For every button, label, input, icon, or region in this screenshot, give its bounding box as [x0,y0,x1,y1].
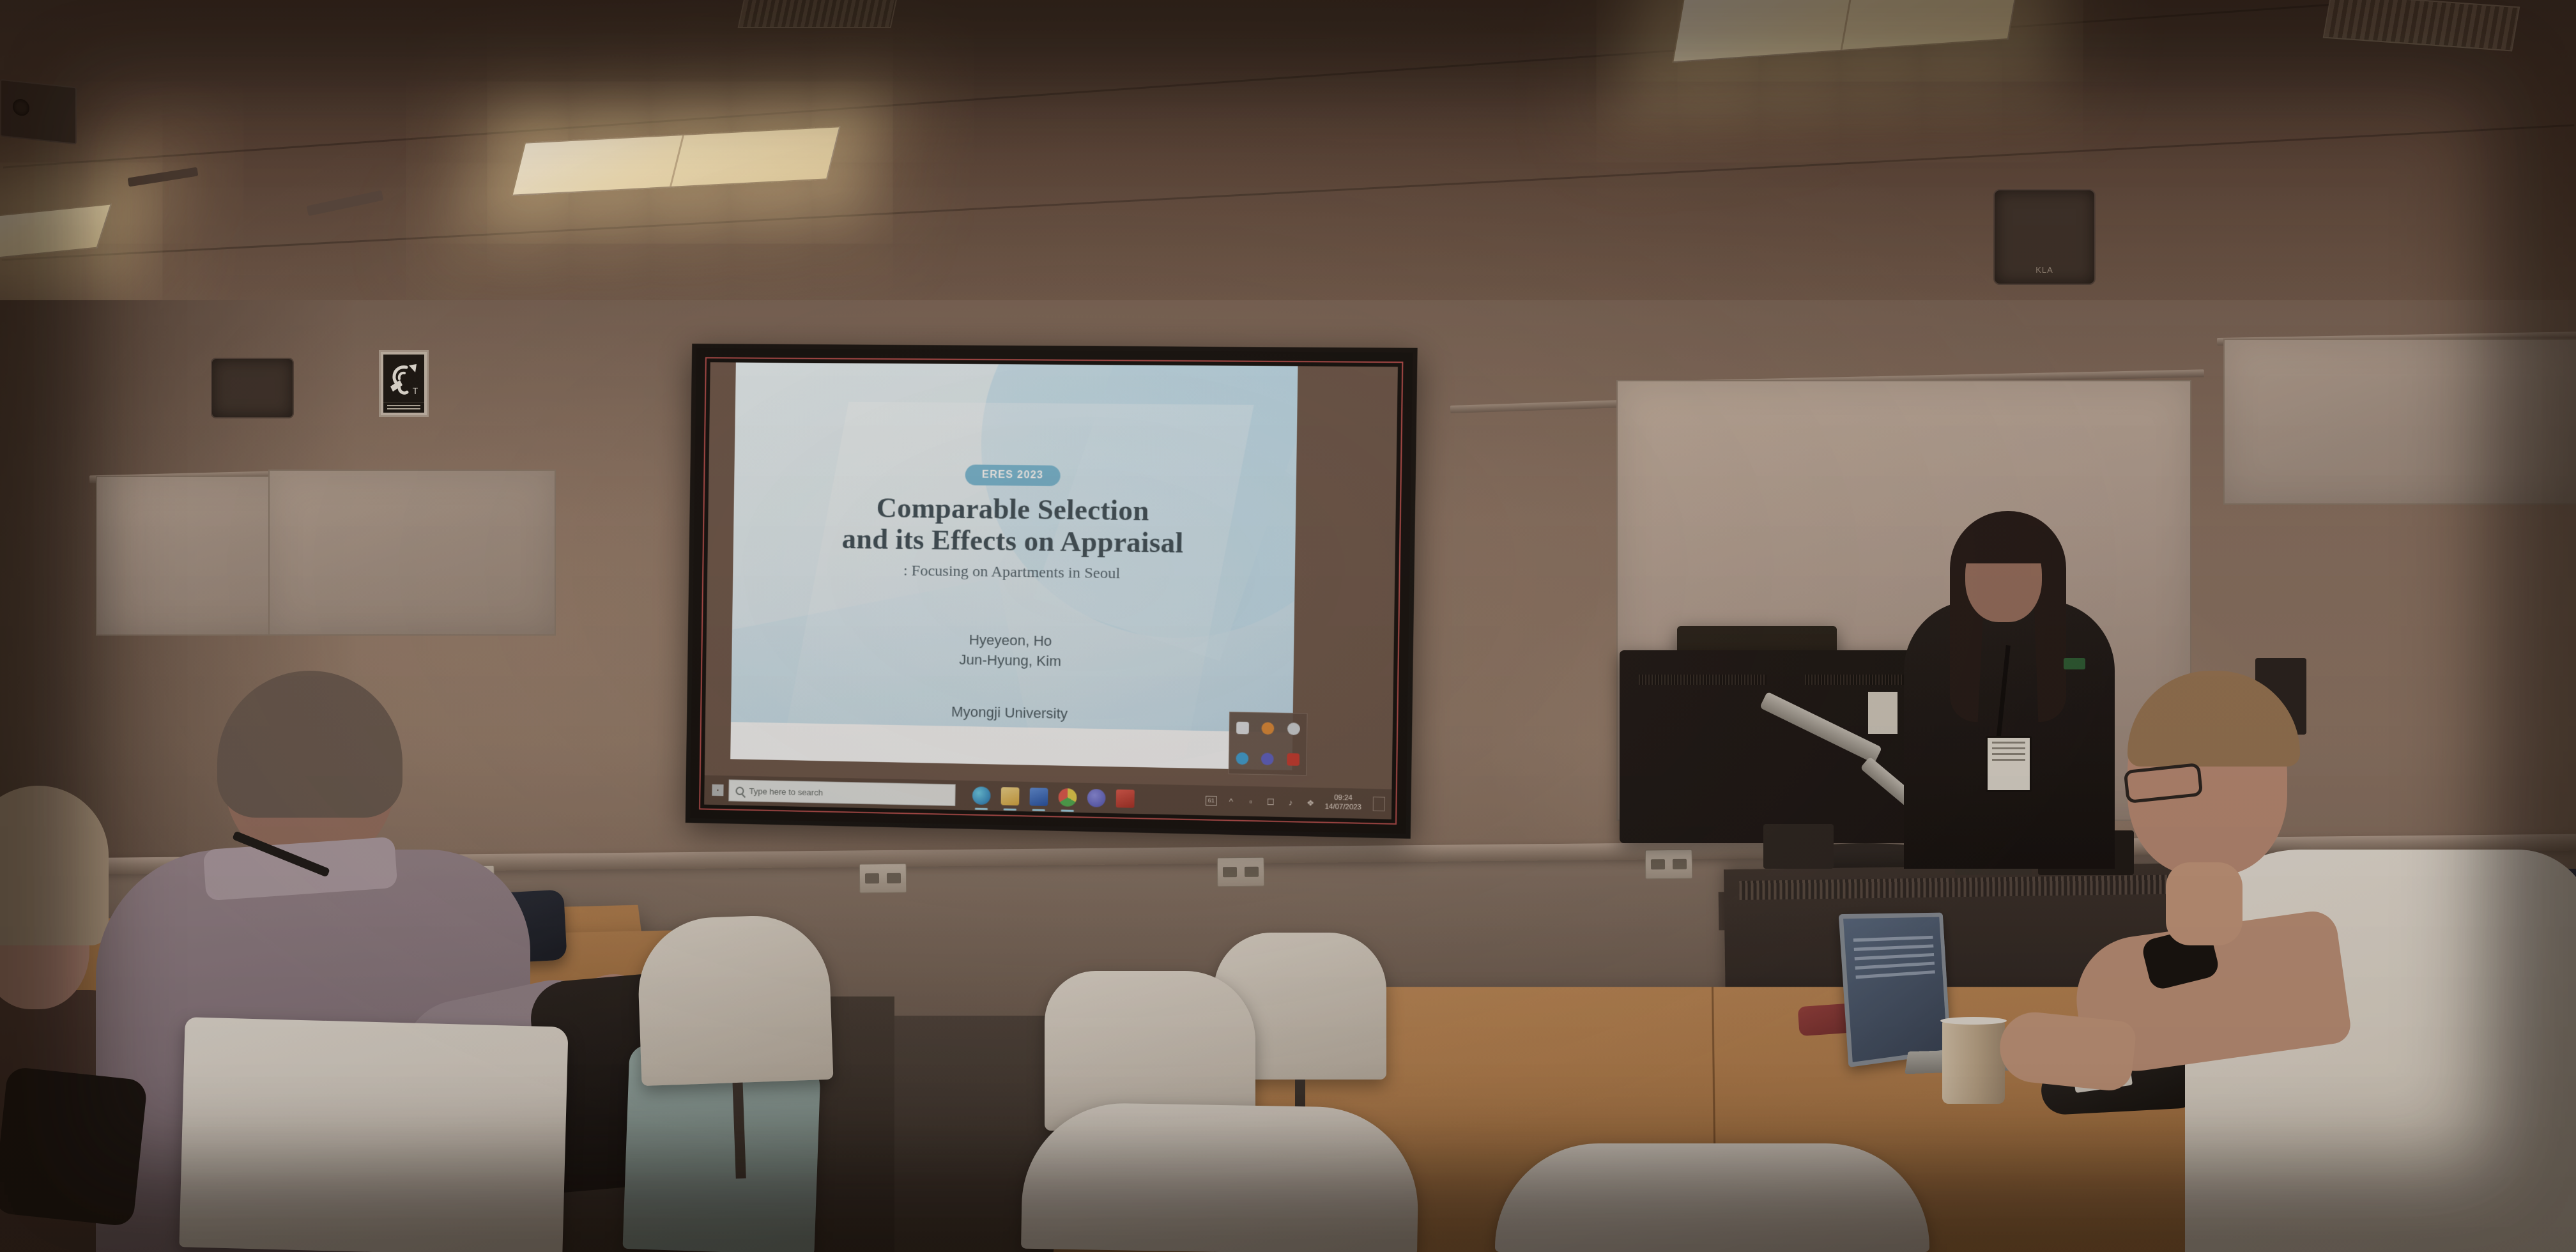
chair[interactable] [636,913,834,1086]
monitor-vent [1639,675,1767,685]
settings-icon[interactable] [1287,722,1300,735]
acrobat-icon[interactable] [1116,790,1135,808]
left-whiteboard-2 [268,469,556,636]
power-socket [1645,850,1692,880]
teams-icon[interactable] [1087,789,1106,807]
attendee-white-shirt-navy-vest [2070,658,2576,1252]
ceiling-projector [0,79,77,145]
projector-mount [128,167,199,187]
paper-coffee-cup [1942,1021,2005,1104]
show-desktop-icon[interactable] [1373,797,1385,811]
attendee-hair [0,786,109,945]
slide-footer-band [730,722,1292,770]
projector-mount [307,190,384,217]
ceiling-seam [3,0,2573,169]
slide-title: Comparable Selection and its Effects on … [733,491,1296,561]
search-input[interactable]: Type here to search [728,779,956,806]
windows-logo-icon [712,784,723,796]
volume-icon[interactable]: ♪ [1285,797,1296,807]
taskbar-apps [972,786,1135,808]
wall-speaker-left [211,358,294,418]
powerpoint-slide: ERES 2023 Comparable Selection and its E… [730,362,1298,770]
pen-icon[interactable]: ❖ [1305,798,1316,808]
ear-icon: T [387,362,420,398]
ceiling-vent [2323,0,2520,51]
office-icon[interactable] [1029,788,1048,806]
bag-on-floor [0,1066,148,1227]
right-whiteboard-side [2223,339,2576,505]
projection-screen: ERES 2023 Comparable Selection and its E… [686,344,1418,839]
onedrive-icon[interactable]: ▫ [1245,797,1257,807]
chevron-up-icon[interactable]: ^ [1225,796,1237,806]
clock-time: 09:24 [1325,794,1362,804]
conference-badge: ERES 2023 [965,464,1061,486]
attendee-hand [2166,862,2242,945]
attendee-hair [217,671,402,818]
ceiling-seam [2,124,2575,261]
security-icon[interactable] [1236,722,1249,735]
sign-caption [383,402,424,413]
laptop-screen-content [1853,936,1936,985]
wall-speaker-top-right: KLA [1993,189,2096,285]
windows-desktop: ERES 2023 Comparable Selection and its E… [704,362,1398,819]
update-icon[interactable] [1262,722,1275,735]
edge-small-icon[interactable] [1236,752,1248,765]
network-icon[interactable]: ☐ [1265,797,1276,807]
tray-overflow-flyout[interactable] [1229,712,1308,775]
hearing-loop-sign: T [379,350,429,417]
search-placeholder: Type here to search [749,786,823,797]
slide-subtitle: : Focusing on Apartments in Seoul [733,560,1295,584]
speaker-logo: KLA [2035,265,2053,275]
teams-small-icon[interactable] [1261,752,1274,765]
chrome-icon[interactable] [1058,788,1077,807]
start-button[interactable] [707,779,728,802]
windows-taskbar: Type here to search 61 ^ ▫ ☐ [704,775,1391,820]
conference-room-scene: KLA T [0,0,2576,1252]
power-socket [859,864,907,894]
power-socket [1217,857,1264,887]
chair[interactable] [1495,1143,1929,1252]
chair[interactable] [179,1017,568,1252]
svg-text:T: T [412,387,418,397]
tray-badge-icon[interactable]: 61 [1206,795,1217,805]
ceiling-light [1672,0,2021,63]
monitor-vent [1805,675,1907,685]
taskbar-clock[interactable]: 09:24 14/07/2023 [1324,794,1361,813]
edge-icon[interactable] [972,786,991,805]
attendee-hair [2127,671,2300,767]
file-explorer-icon[interactable] [1001,787,1020,805]
ceiling-vent [737,0,898,28]
chair[interactable] [1021,1102,1420,1252]
ceiling-light [511,126,840,196]
slide-authors: Hyeyeon, Ho Jun-Hyung, Kim [732,626,1294,676]
search-icon [735,786,744,795]
acrobat-small-icon[interactable] [1287,753,1299,766]
slide-title-line-2: and its Effects on Appraisal [733,522,1296,561]
system-tray: 61 ^ ▫ ☐ ♪ ❖ 09:24 14/07/2023 [1206,791,1392,813]
conference-lanyard-badge [1986,736,2032,792]
clock-date: 14/07/2023 [1324,803,1361,813]
screen-surface: ERES 2023 Comparable Selection and its E… [704,362,1398,819]
av-equipment [1763,824,1834,869]
asset-label [1868,692,1897,734]
laptop-open[interactable] [1839,913,1951,1067]
